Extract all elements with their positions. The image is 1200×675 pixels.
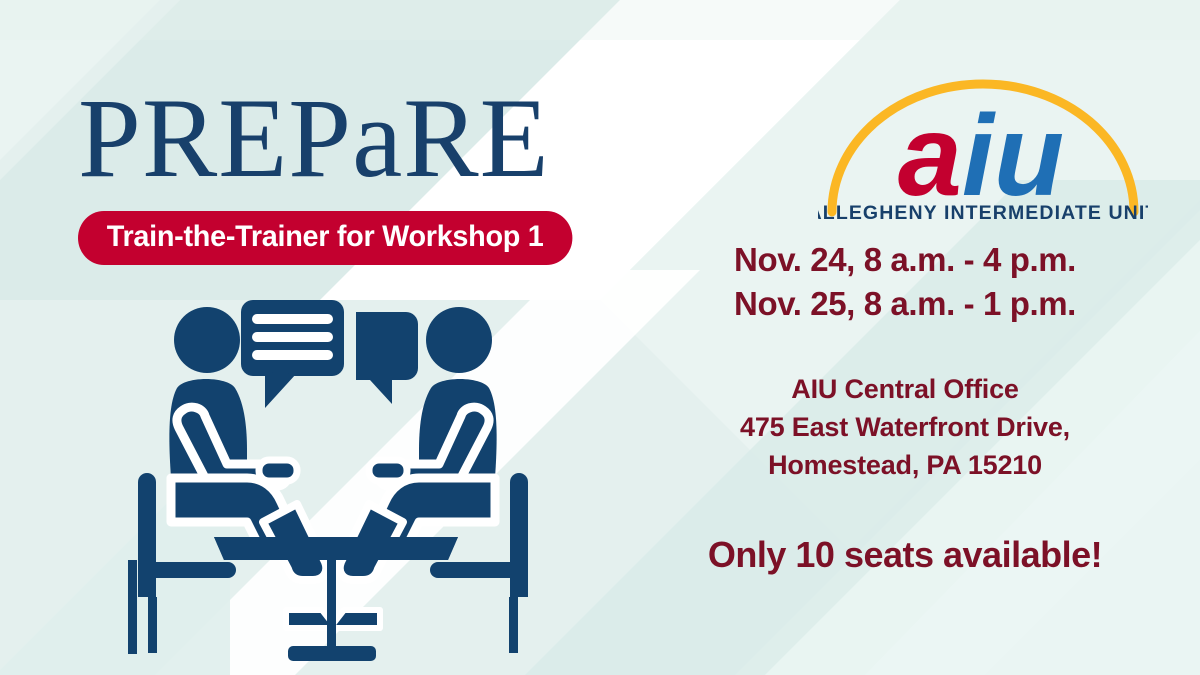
speech-bubble-left-icon xyxy=(241,300,344,408)
venue-block: AIU Central Office 475 East Waterfront D… xyxy=(660,371,1150,484)
organization-name: ALLEGHENY INTERMEDIATE UNIT xyxy=(818,202,1148,224)
aiu-wordmark: aiu xyxy=(898,92,1064,220)
event-info-column: Nov. 24, 8 a.m. - 4 p.m. Nov. 25, 8 a.m.… xyxy=(660,238,1150,576)
aiu-logo: aiu ALLEGHENY INTERMEDIATE UNIT xyxy=(818,62,1148,224)
wordmark-letters-iu: iu xyxy=(962,92,1064,220)
table-top-overlay xyxy=(214,537,458,659)
wordmark-letter-a: a xyxy=(898,92,962,220)
event-date-line-2: Nov. 25, 8 a.m. - 1 p.m. xyxy=(660,282,1150,326)
page-title: PREPaRE xyxy=(78,82,698,195)
event-flyer: PREPaRE Train-the-Trainer for Workshop 1… xyxy=(0,0,1200,675)
venue-city-state-zip: Homestead, PA 15210 xyxy=(660,447,1150,485)
venue-name: AIU Central Office xyxy=(660,371,1150,409)
event-date-line-1: Nov. 24, 8 a.m. - 4 p.m. xyxy=(660,238,1150,282)
venue-street: 475 East Waterfront Drive, xyxy=(660,409,1150,447)
speech-bubble-right-icon xyxy=(356,312,418,404)
illustration-two-people-at-table xyxy=(128,292,538,664)
illustration-svg xyxy=(128,292,538,664)
seats-availability-note: Only 10 seats available! xyxy=(660,534,1150,576)
workshop-subtitle-badge: Train-the-Trainer for Workshop 1 xyxy=(78,211,572,265)
band-top-tint xyxy=(0,0,1200,40)
aiu-logo-svg: aiu ALLEGHENY INTERMEDIATE UNIT xyxy=(818,62,1148,224)
title-block: PREPaRE Train-the-Trainer for Workshop 1 xyxy=(78,82,698,265)
